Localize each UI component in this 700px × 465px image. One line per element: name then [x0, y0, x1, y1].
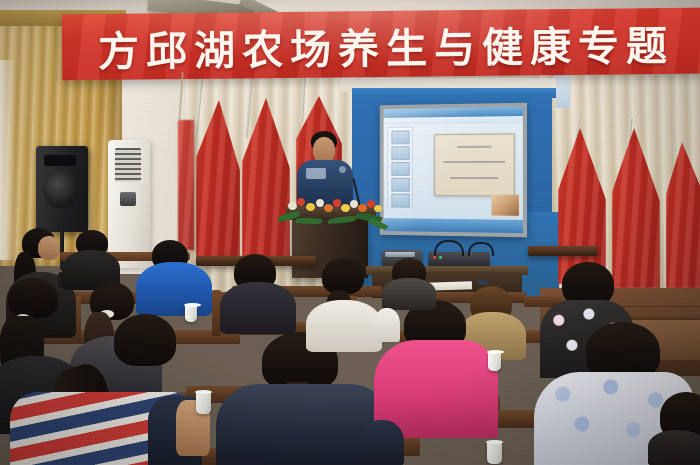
- slide-image-thumb: [491, 194, 520, 217]
- cable: [468, 242, 494, 256]
- slide-thumbnail: [391, 130, 409, 144]
- slide-thumbnail: [391, 194, 409, 208]
- cable: [434, 240, 464, 256]
- slide-thumbnail: [391, 178, 409, 192]
- projection-screen-surface: [384, 107, 523, 233]
- paper-cup: [196, 392, 211, 414]
- red-flag-drape: [178, 120, 194, 250]
- window-menubar: [384, 116, 523, 125]
- pa-speaker: [36, 146, 88, 232]
- speaker-woofer: [43, 172, 79, 208]
- taskbar: [384, 218, 523, 233]
- event-banner: 方邱湖农场养生与健康专题: [62, 8, 700, 81]
- paper-cup: [185, 305, 197, 322]
- slide-thumbnail: [391, 146, 409, 160]
- photo-scene: 方邱湖农场养生与健康专题: [0, 0, 700, 465]
- event-banner-text: 方邱湖农场养生与健康专题: [98, 12, 675, 78]
- small-device: [478, 280, 488, 285]
- speaker-port: [44, 155, 76, 166]
- ac-control-panel: [120, 192, 136, 206]
- window-light: [0, 60, 16, 260]
- air-conditioner: [108, 140, 150, 268]
- bench: [528, 246, 598, 256]
- slide-thumbnail-panel: [387, 126, 412, 207]
- window-right: [556, 72, 570, 108]
- current-slide: [434, 133, 514, 196]
- projection-screen: [380, 103, 527, 238]
- shirt-logo: [306, 168, 326, 179]
- paper-cup: [488, 352, 501, 371]
- projector-lens: [385, 252, 415, 257]
- flower-arrangement: [284, 192, 382, 218]
- paper-cup: [487, 442, 502, 464]
- ac-vent: [115, 148, 141, 182]
- slide-thumbnail: [391, 162, 409, 176]
